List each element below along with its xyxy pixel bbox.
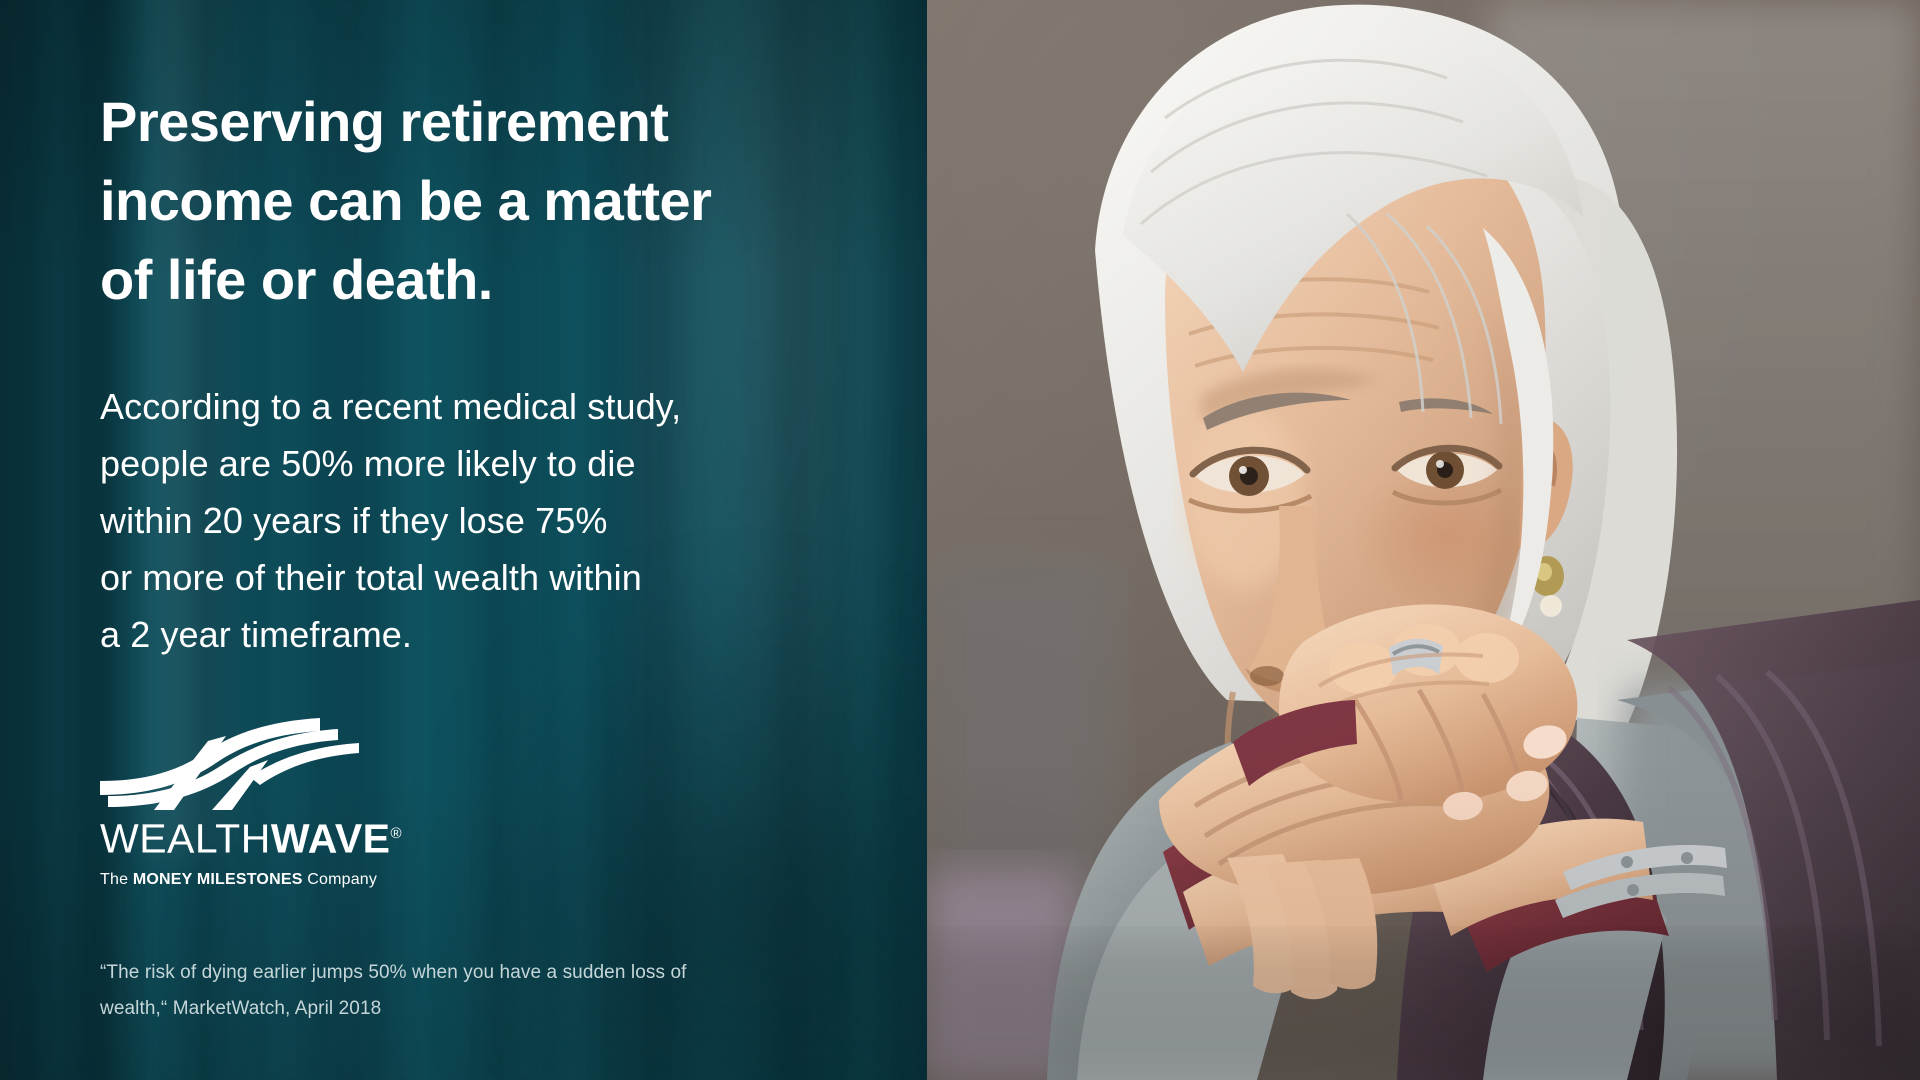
body-line-2: people are 50% more likely to die: [100, 435, 860, 492]
registered-mark-icon: ®: [391, 825, 403, 842]
body-line-1: According to a recent medical study,: [100, 378, 860, 435]
wealthwave-logo: WEALTHWAVE® The MONEY MILESTONES Company: [100, 715, 400, 890]
citation-line-1: “The risk of dying earlier jumps 50% whe…: [100, 955, 860, 991]
headline-line-3: of life or death.: [100, 240, 860, 319]
body-paragraph: According to a recent medical study, peo…: [100, 378, 860, 663]
portrait-photo: [927, 0, 1920, 1080]
body-line-5: a 2 year timeframe.: [100, 606, 860, 663]
logo-wordmark-bold: WAVE: [271, 816, 391, 862]
teal-content-panel: Preserving retirement income can be a ma…: [0, 0, 927, 1080]
logo-wordmark: WEALTHWAVE®: [100, 812, 400, 861]
headline: Preserving retirement income can be a ma…: [100, 82, 860, 319]
body-line-3: within 20 years if they lose 75%: [100, 492, 860, 549]
logo-wordmark-light: WEALTH: [100, 816, 271, 862]
portrait-illustration: [927, 0, 1920, 1080]
tagline-suffix: Company: [303, 871, 378, 888]
citation-line-2: wealth,“ MarketWatch, April 2018: [100, 991, 860, 1027]
body-line-4: or more of their total wealth within: [100, 549, 860, 606]
tagline-emphasis: MONEY MILESTONES: [133, 871, 303, 888]
panel-content: Preserving retirement income can be a ma…: [0, 0, 927, 1080]
source-citation: “The risk of dying earlier jumps 50% whe…: [100, 955, 860, 1027]
headline-line-1: Preserving retirement: [100, 82, 860, 161]
marketing-poster: Preserving retirement income can be a ma…: [0, 0, 1920, 1080]
logo-tagline: The MONEY MILESTONES Company: [100, 870, 400, 890]
headline-line-2: income can be a matter: [100, 161, 860, 240]
tagline-prefix: The: [100, 871, 133, 888]
wave-mark-icon: [100, 715, 365, 810]
